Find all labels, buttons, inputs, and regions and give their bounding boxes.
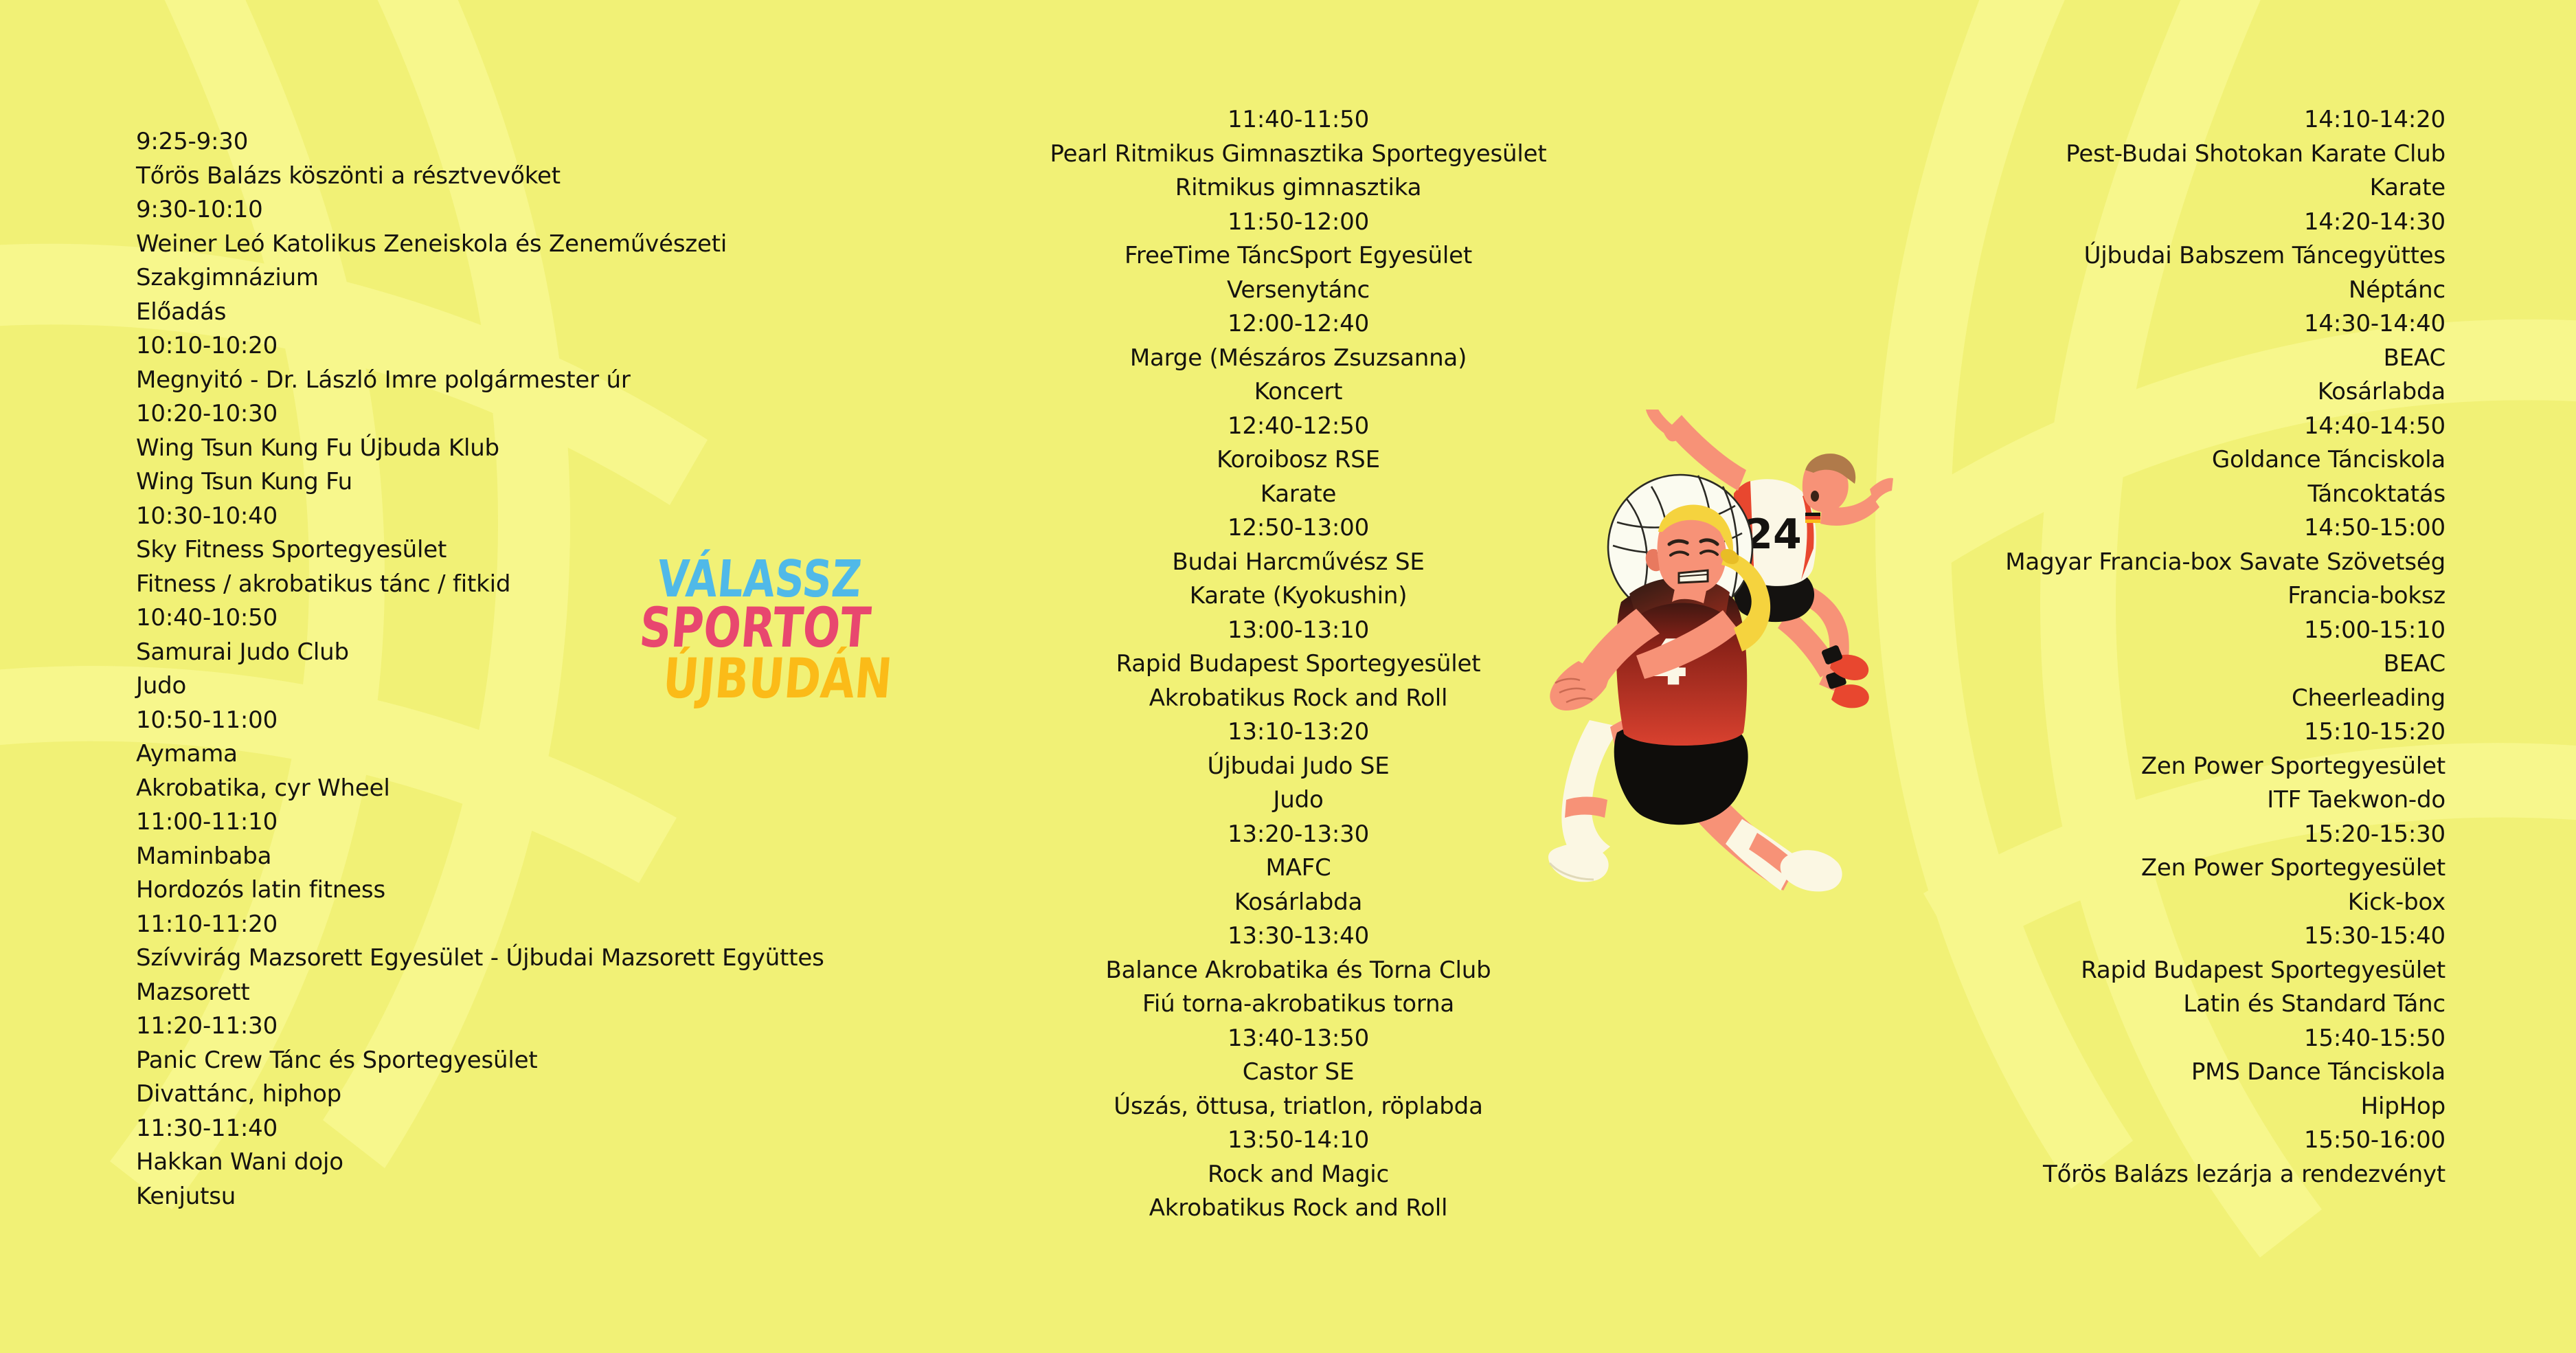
schedule-line: Pest-Budai Shotokan Karate Club xyxy=(1896,137,2445,172)
schedule-line: 14:30-14:40 xyxy=(1896,307,2445,342)
schedule-line: Koroibosz RSE xyxy=(1024,443,1573,478)
schedule-line: ITF Taekwon-do xyxy=(1896,783,2445,818)
schedule-line: Hakkan Wani dojo xyxy=(136,1145,926,1180)
schedule-line: 10:30-10:40 xyxy=(136,500,926,534)
schedule-line: Akrobatikus Rock and Roll xyxy=(1024,1192,1573,1226)
schedule-line: Karate (Kyokushin) xyxy=(1024,579,1573,614)
schedule-line: 15:50-16:00 xyxy=(1896,1123,2445,1158)
schedule-line: Pearl Ritmikus Gimnasztika Sportegyesüle… xyxy=(1024,137,1573,172)
schedule-line: 13:40-13:50 xyxy=(1024,1022,1573,1056)
volleyball-players-illustration: 24 xyxy=(1536,410,1893,899)
schedule-line: Zen Power Sportegyesület xyxy=(1896,750,2445,784)
schedule-line: Mazsorett xyxy=(136,976,926,1010)
schedule-line: Tőrös Balázs lezárja a rendezvényt xyxy=(1896,1158,2445,1192)
schedule-line: 15:00-15:10 xyxy=(1896,614,2445,648)
schedule-line: Marge (Mészáros Zsuzsanna) xyxy=(1024,342,1573,376)
schedule-line: Budai Harcművész SE xyxy=(1024,546,1573,580)
schedule-line: Balance Akrobatika és Torna Club xyxy=(1024,954,1573,988)
schedule-line: Úszás, öttusa, triatlon, röplabda xyxy=(1024,1090,1573,1124)
schedule-line: Cheerleading xyxy=(1896,682,2445,716)
schedule-line: 11:30-11:40 xyxy=(136,1112,926,1146)
schedule-line: Előadás xyxy=(136,295,926,330)
schedule-line: Koncert xyxy=(1024,375,1573,410)
schedule-line: 10:10-10:20 xyxy=(136,329,926,364)
schedule-line: 15:30-15:40 xyxy=(1896,919,2445,954)
schedule-line: BEAC xyxy=(1896,647,2445,682)
schedule-line: 9:30-10:10 xyxy=(136,193,926,227)
schedule-line: Weiner Leó Katolikus Zeneiskola és Zenem… xyxy=(136,227,926,262)
schedule-line: Rapid Budapest Sportegyesület xyxy=(1896,954,2445,988)
schedule-line: 14:40-14:50 xyxy=(1896,410,2445,444)
schedule-line: 10:20-10:30 xyxy=(136,397,926,432)
schedule-line: Panic Crew Tánc és Sportegyesület xyxy=(136,1044,926,1078)
schedule-line: 14:20-14:30 xyxy=(1896,205,2445,240)
schedule-line: Francia-boksz xyxy=(1896,579,2445,614)
schedule-line: Karate xyxy=(1896,171,2445,205)
schedule-line: 15:10-15:20 xyxy=(1896,715,2445,750)
schedule-line: Szívvirág Mazsorett Egyesület - Újbudai … xyxy=(136,941,926,976)
schedule-line: 11:00-11:10 xyxy=(136,805,926,840)
schedule-line: 11:50-12:00 xyxy=(1024,205,1573,240)
schedule-line: Karate xyxy=(1024,478,1573,512)
schedule-line: 14:50-15:00 xyxy=(1896,511,2445,546)
schedule-line: Kosárlabda xyxy=(1024,886,1573,920)
event-logo: VÁLASSZ SPORTOT ÚJBUDÁN xyxy=(650,554,1035,781)
schedule-line: Maminbaba xyxy=(136,840,926,874)
schedule-line: Akrobatikus Rock and Roll xyxy=(1024,682,1573,716)
logo-line-ujbudan: ÚJBUDÁN xyxy=(661,651,894,706)
schedule-line: Táncoktatás xyxy=(1896,478,2445,512)
schedule-line: Wing Tsun Kung Fu Újbuda Klub xyxy=(136,432,926,466)
schedule-line: Szakgimnázium xyxy=(136,261,926,295)
schedule-line: PMS Dance Tánciskola xyxy=(1896,1055,2445,1090)
schedule-line: HipHop xyxy=(1896,1090,2445,1124)
schedule-line: Versenytánc xyxy=(1024,273,1573,308)
schedule-line: Újbudai Judo SE xyxy=(1024,750,1573,784)
schedule-line: Kosárlabda xyxy=(1896,375,2445,410)
schedule-line: Kenjutsu xyxy=(136,1180,926,1214)
schedule-line: Castor SE xyxy=(1024,1055,1573,1090)
schedule-line: Rapid Budapest Sportegyesület xyxy=(1024,647,1573,682)
schedule-line: 12:50-13:00 xyxy=(1024,511,1573,546)
schedule-line: 12:40-12:50 xyxy=(1024,410,1573,444)
schedule-line: Latin és Standard Tánc xyxy=(1896,987,2445,1022)
schedule-line: 15:20-15:30 xyxy=(1896,818,2445,852)
schedule-line: 12:00-12:40 xyxy=(1024,307,1573,342)
schedule-line: 15:40-15:50 xyxy=(1896,1022,2445,1056)
schedule-line: MAFC xyxy=(1024,851,1573,886)
schedule-line: Goldance Tánciskola xyxy=(1896,443,2445,478)
schedule-line: Tőrös Balázs köszönti a résztvevőket xyxy=(136,159,926,194)
schedule-line: 13:00-13:10 xyxy=(1024,614,1573,648)
schedule-line: Fiú torna-akrobatikus torna xyxy=(1024,987,1573,1022)
schedule-line: Ritmikus gimnasztika xyxy=(1024,171,1573,205)
schedule-line: 11:20-11:30 xyxy=(136,1009,926,1044)
schedule-line: Néptánc xyxy=(1896,273,2445,308)
schedule-line: Kick-box xyxy=(1896,886,2445,920)
schedule-line: Újbudai Babszem Táncegyüttes xyxy=(1896,239,2445,273)
schedule-line: Wing Tsun Kung Fu xyxy=(136,465,926,500)
column-middle: 11:40-11:50Pearl Ritmikus Gimnasztika Sp… xyxy=(1024,103,1573,1226)
schedule-line: 11:40-11:50 xyxy=(1024,103,1573,137)
schedule-line: 13:50-14:10 xyxy=(1024,1123,1573,1158)
schedule-line: 14:10-14:20 xyxy=(1896,103,2445,137)
schedule-line: Judo xyxy=(1024,783,1573,818)
schedule-line: Hordozós latin fitness xyxy=(136,873,926,908)
schedule-line: Megnyitó - Dr. László Imre polgármester … xyxy=(136,364,926,398)
schedule-line: Divattánc, hiphop xyxy=(136,1077,926,1112)
schedule-line: BEAC xyxy=(1896,342,2445,376)
schedule-line: Zen Power Sportegyesület xyxy=(1896,851,2445,886)
schedule-line: 11:10-11:20 xyxy=(136,908,926,942)
schedule-line: 13:20-13:30 xyxy=(1024,818,1573,852)
schedule-line: 9:25-9:30 xyxy=(136,125,926,159)
schedule-line: 13:30-13:40 xyxy=(1024,919,1573,954)
schedule-line: Magyar Francia-box Savate Szövetség xyxy=(1896,546,2445,580)
schedule-line: FreeTime TáncSport Egyesület xyxy=(1024,239,1573,273)
column-right: 14:10-14:20Pest-Budai Shotokan Karate Cl… xyxy=(1896,103,2445,1192)
schedule-line: Rock and Magic xyxy=(1024,1158,1573,1192)
schedule-line: 13:10-13:20 xyxy=(1024,715,1573,750)
